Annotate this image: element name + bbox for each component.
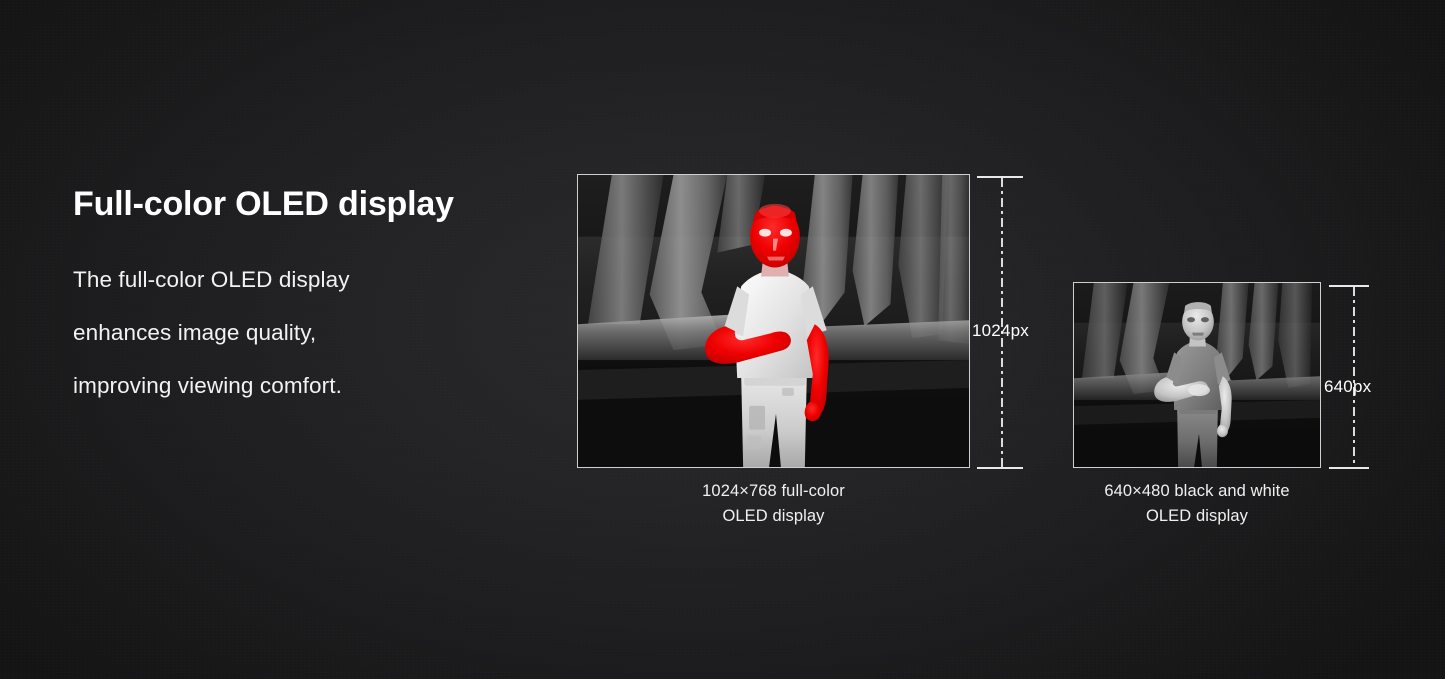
dimension-cap-bottom <box>1329 467 1369 469</box>
dimension-cap-top <box>1329 285 1369 287</box>
page-title: Full-color OLED display <box>73 186 573 223</box>
body-line-1: The full-color OLED display <box>73 253 573 306</box>
figure-full-color-display: 1024×768 full-color OLED display <box>577 174 970 529</box>
full-color-screen-frame <box>577 174 970 468</box>
dimension-annotation-height-1024: 1024px <box>977 176 1067 469</box>
caption-line-2: OLED display <box>1073 504 1321 529</box>
body-line-3: improving viewing comfort. <box>73 359 573 412</box>
full-color-caption: 1024×768 full-color OLED display <box>577 479 970 529</box>
thermal-scene-color <box>578 175 969 468</box>
body-copy: The full-color OLED display enhances ima… <box>73 253 573 412</box>
black-and-white-caption: 640×480 black and white OLED display <box>1073 479 1321 529</box>
copy-block: Full-color OLED display The full-color O… <box>73 186 573 412</box>
dimension-label-640px: 640px <box>1324 378 1371 395</box>
dimension-label-1024px: 1024px <box>972 322 1029 339</box>
black-and-white-screen-frame <box>1073 282 1321 468</box>
caption-line-2: OLED display <box>577 504 970 529</box>
dimension-cap-top <box>977 176 1023 178</box>
dimension-cap-bottom <box>977 467 1023 469</box>
slide-canvas: Full-color OLED display The full-color O… <box>0 0 1445 679</box>
thermal-scene-mono <box>1074 283 1320 468</box>
caption-line-1: 1024×768 full-color <box>577 479 970 504</box>
body-line-2: enhances image quality, <box>73 306 573 359</box>
dimension-annotation-height-640: 640px <box>1329 285 1409 469</box>
caption-line-1: 640×480 black and white <box>1073 479 1321 504</box>
figure-black-and-white-display: 640×480 black and white OLED display <box>1073 282 1321 529</box>
